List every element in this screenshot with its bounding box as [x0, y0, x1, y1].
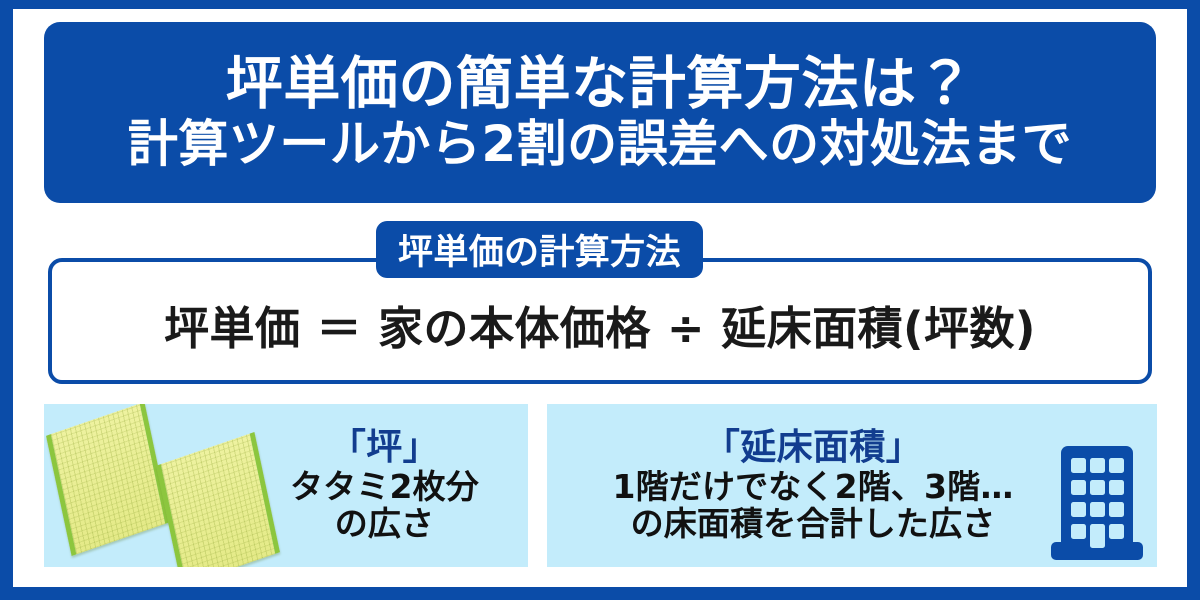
section-badge-label: 坪単価の計算方法: [398, 224, 681, 275]
frame-border-left: [0, 0, 13, 600]
card-nobeyuka-desc-line-1: 1階だけでなく2階、3階…: [563, 469, 1063, 506]
card-nobeyuka-menseki: 「延床面積」 1階だけでなく2階、3階… の床面積を合計した広さ: [547, 404, 1157, 567]
card-tsubo-text: 「坪」 タタミ2枚分 の広さ: [290, 428, 479, 542]
card-nobeyuka-text: 「延床面積」 1階だけでなく2階、3階… の床面積を合計した広さ: [563, 428, 1063, 542]
building-icon: [1049, 444, 1145, 562]
card-nobeyuka-title: 「延床面積」: [563, 428, 1063, 468]
frame-border-top: [0, 0, 1200, 9]
formula-expression: 坪単価 ＝ 家の本体価格 ÷ 延床面積(坪数): [164, 292, 1036, 357]
card-tsubo: 「坪」 タタミ2枚分 の広さ: [44, 404, 528, 567]
header-banner: 坪単価の簡単な計算方法は？ 計算ツールから2割の誤差への対処法まで: [44, 22, 1156, 203]
section-badge: 坪単価の計算方法: [376, 221, 703, 278]
infographic-canvas: 坪単価の簡単な計算方法は？ 計算ツールから2割の誤差への対処法まで 坪単価 ＝ …: [0, 0, 1200, 600]
frame-border-bottom: [0, 587, 1200, 600]
frame-border-right: [1187, 0, 1200, 600]
card-tsubo-title: 「坪」: [290, 428, 479, 468]
card-nobeyuka-desc-line-2: の床面積を合計した広さ: [563, 506, 1063, 543]
header-title-line-1: 坪単価の簡単な計算方法は？: [226, 55, 974, 113]
card-tsubo-body: 「坪」 タタミ2枚分 の広さ: [44, 404, 528, 567]
card-tsubo-desc-line-1: タタミ2枚分: [290, 469, 479, 506]
card-tsubo-desc-line-2: の広さ: [290, 506, 479, 543]
header-title-line-2: 計算ツールから2割の誤差への対処法まで: [128, 119, 1072, 170]
